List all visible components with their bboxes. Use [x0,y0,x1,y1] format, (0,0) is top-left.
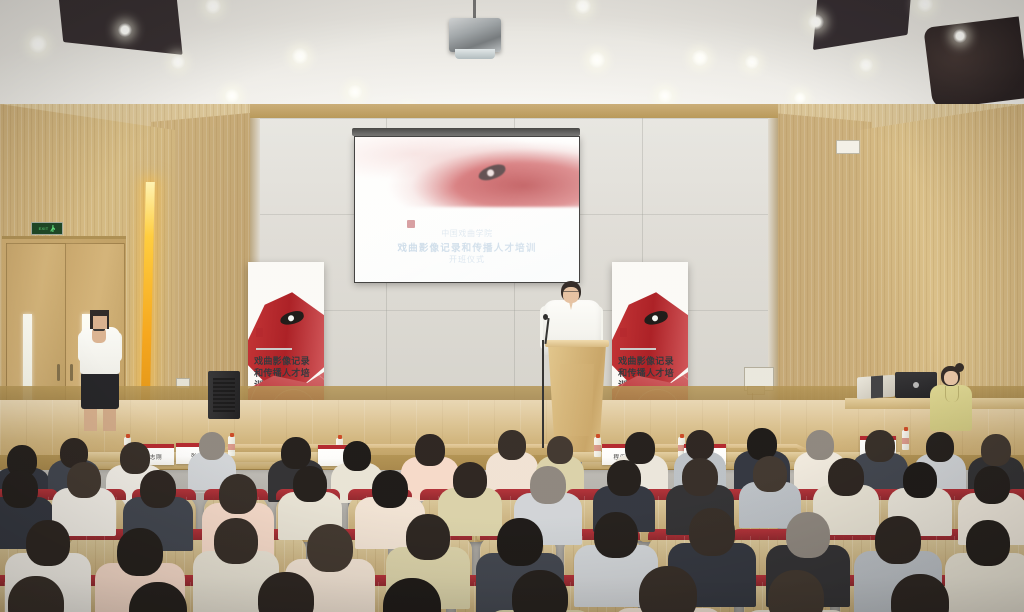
banner-rule-left [256,348,292,350]
audience-person-back-7-head [415,434,445,466]
audience-person-back-3-head [120,442,150,474]
water-bottle-6 [902,430,909,450]
screen-housing [352,128,580,136]
exit-sign-label: EXIT [39,227,49,231]
av-operator-face [944,371,958,385]
downlight-19 [171,55,185,69]
downlight-1 [29,35,47,53]
audience-person-4-head [219,474,257,514]
standing-person-face [93,316,107,329]
audience-person-17-head [214,518,258,564]
auditorium-scene: 中国戏曲学院 戏曲影像记录和传播人才培训 开班仪式 戏曲影像记录 和传播人才培训… [0,0,1024,612]
audience-person-13-head [903,462,937,498]
running-man-icon [50,225,55,232]
banner-title-line1-right: 戏曲影像记录 [618,356,682,368]
acoustic-panel-edge-right [768,118,778,408]
audience-person-10-head [682,458,718,496]
audience-person-8-head [530,466,566,504]
downlight-10 [658,89,672,103]
slide-line-3: 开班仪式 [355,254,579,265]
audience-person-3-head [140,470,176,508]
audience-person-back-4-head [199,432,225,460]
audience-person-6-head [372,470,408,508]
audience-person-24-head [875,516,921,564]
banner-logo-right [620,328,627,337]
downlight-4 [348,85,362,99]
downlight-8 [589,52,605,68]
downlight-14 [808,14,824,30]
audience-person-7-head [453,462,487,498]
audience-person-12-head [828,458,864,496]
audience-person-15-head [26,520,70,566]
lectern-top [545,340,609,347]
lanyard-icon [945,386,959,402]
audience-person-back-6-head [343,441,371,471]
audience-person-back-9-head [547,436,573,464]
audience-person-14-head [974,466,1010,504]
banner-rule-right [620,348,656,350]
downlight-15 [859,58,873,72]
audience-person-22-head [689,508,735,556]
audience-person-2-head [67,462,101,498]
audience-person-23-head [786,512,830,558]
downlight-20 [118,23,132,37]
door-handle-right[interactable] [70,364,73,381]
ceiling-projector [449,18,501,52]
audience-person-1-head [2,470,38,508]
audience-person-back-13-head [806,430,834,460]
audience-person-21-head [594,512,638,558]
door-handle-left[interactable] [57,364,60,381]
downlight-13 [794,92,806,104]
emergency-exit-sign: EXIT [31,222,63,235]
lectern-front-panel [560,364,594,436]
downlight-3 [292,48,308,64]
standing-person-leg-right [103,407,116,431]
ceiling-speaker-corner [923,16,1024,109]
audience-person-16-head [117,528,163,576]
audience-person-back-11-head [686,430,714,460]
floor-loudspeaker [208,371,240,419]
projected-slide: 中国戏曲学院 戏曲影像记录和传播人才培训 开班仪式 [355,137,579,282]
audience-person-9-head [607,460,641,496]
downlight-12 [745,55,759,69]
standing-person-shorts [81,372,119,409]
audience-person-20-head [497,518,543,566]
wall-control-panel[interactable] [836,140,860,154]
audience-person-back-15-head [926,432,954,462]
water-bottle-3 [594,437,601,457]
audience-person-back-5-head [281,437,311,469]
banner-title-line1-left: 戏曲影像记录 [254,356,318,368]
av-operator-hair-bun [955,363,964,372]
water-bottle-2 [228,436,235,456]
audience-person-19-head [406,514,450,560]
slide-logo [407,220,415,228]
audience-person-back-16-head [981,434,1011,466]
slide-line-2: 戏曲影像记录和传播人才培训 [355,240,579,254]
microphone-cable [542,340,544,448]
slide-line-1: 中国戏曲学院 [355,228,579,239]
standing-person-leg-left [84,407,97,431]
glasses-icon [563,291,579,296]
stacked-monitor [857,375,895,400]
audience-person-back-14-head [865,430,895,462]
audience-person-5-head [293,466,327,502]
audience-person-back-10-head [625,432,655,464]
audience-person-11-head [753,456,787,492]
microphone-icon [543,314,548,320]
audience-person-25-head [966,520,1010,566]
downlight-11 [692,50,708,66]
banner-logo-left [256,328,263,337]
audience-person-back-8-head [498,430,526,460]
audience-person-18-head [307,524,353,572]
slide-graphic-swoosh [354,136,580,207]
projection-screen: 中国戏曲学院 戏曲影像记录和传播人才培训 开班仪式 [354,136,580,283]
downlight-17 [953,29,967,43]
audience-person-31-head [639,566,697,612]
downlight-18 [225,89,239,103]
